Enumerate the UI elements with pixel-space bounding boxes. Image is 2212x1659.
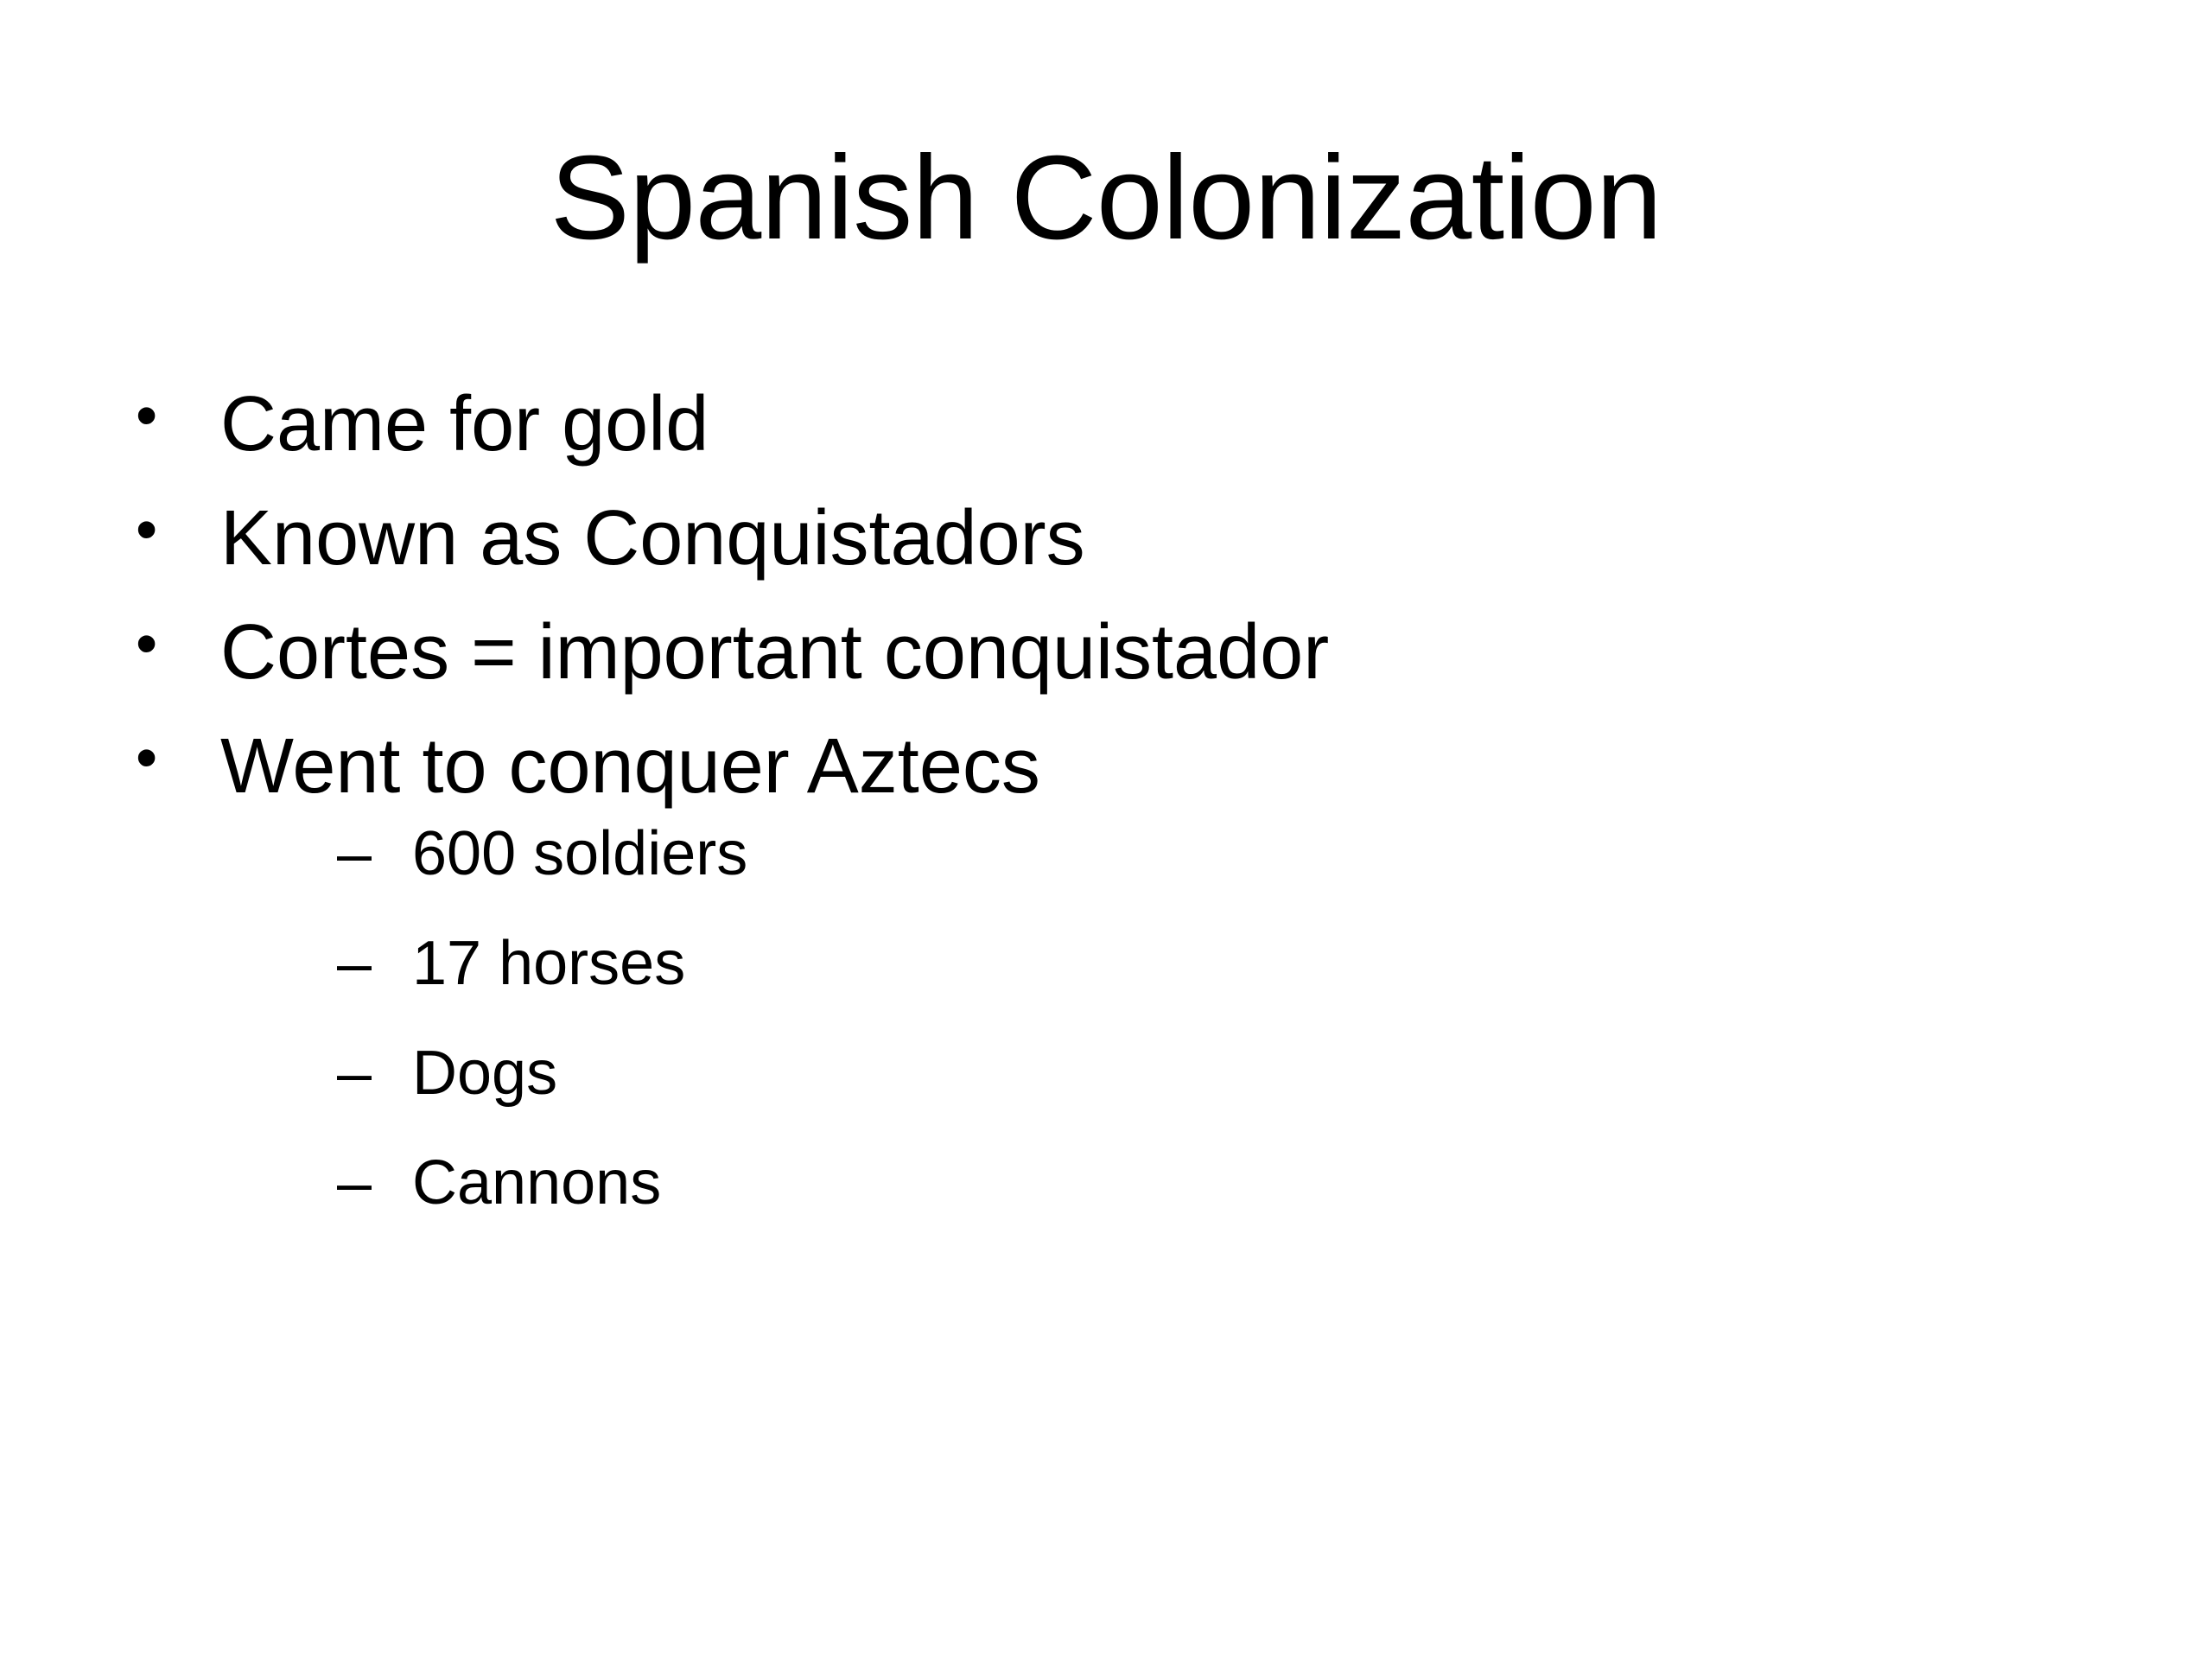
list-item-label: Came for gold: [220, 385, 709, 463]
list-item: • Known as Conquistadors: [128, 499, 2098, 577]
bullet-list-level1: • Came for gold • Known as Conquistadors…: [128, 385, 2098, 1214]
bullet-point-icon: •: [136, 613, 179, 675]
list-item-label: Cortes = important conquistador: [220, 613, 1329, 691]
presentation-slide: Spanish Colonization • Came for gold • K…: [0, 0, 2212, 1659]
list-item: • Cortes = important conquistador: [128, 613, 2098, 691]
list-item: – Dogs: [220, 1042, 2098, 1104]
list-item: – Cannons: [220, 1152, 2098, 1214]
list-item-label: Cannons: [412, 1152, 661, 1214]
list-item-label: 600 soldiers: [412, 823, 747, 885]
list-item-label: Known as Conquistadors: [220, 499, 1085, 577]
list-item-label: Went to conquer Aztecs: [220, 728, 1040, 805]
slide-title: Spanish Colonization: [0, 130, 2212, 267]
dash-bullet-icon: –: [337, 823, 397, 885]
list-item-label: Dogs: [412, 1042, 557, 1104]
bullet-point-icon: •: [136, 499, 179, 561]
dash-bullet-icon: –: [337, 1152, 397, 1214]
dash-bullet-icon: –: [337, 1042, 397, 1104]
list-item: – 600 soldiers: [220, 823, 2098, 885]
slide-body-content: • Came for gold • Known as Conquistadors…: [128, 385, 2098, 1262]
list-item: • Came for gold: [128, 385, 2098, 463]
list-item-label: 17 horses: [412, 932, 685, 995]
dash-bullet-icon: –: [337, 932, 397, 995]
bullet-point-icon: •: [136, 728, 179, 789]
list-item: • Went to conquer Aztecs – 600 soldiers …: [128, 728, 2098, 1214]
bullet-point-icon: •: [136, 385, 179, 447]
list-item: – 17 horses: [220, 932, 2098, 995]
bullet-list-level2: – 600 soldiers – 17 horses – Dogs – Cann…: [220, 823, 2098, 1214]
